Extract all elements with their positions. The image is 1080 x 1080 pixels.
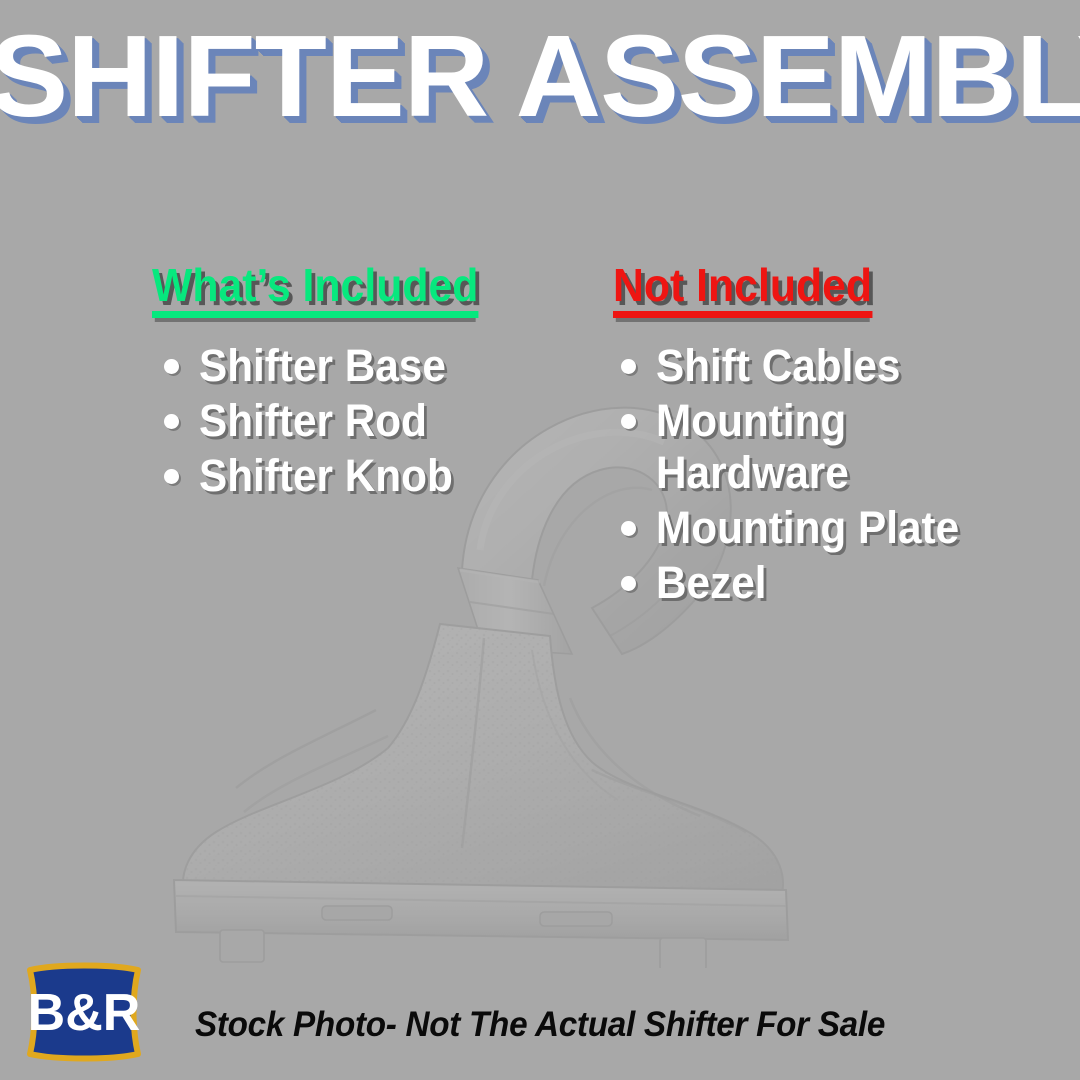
heading-whats-included: What’s Included	[152, 262, 478, 318]
list-not-included: Shift Cables Mounting Hardware Mounting …	[612, 340, 1012, 612]
list-item-label: Shift Cables	[656, 340, 900, 392]
shifter-rod-shape	[458, 568, 572, 654]
list-item: Shifter Rod	[155, 395, 585, 447]
bullet-icon	[621, 359, 636, 374]
page-title: SHIFTER ASSEMBLY	[0, 18, 1080, 134]
list-item-label: Mounting Hardware	[656, 395, 991, 499]
list-item-label: Mounting Plate	[656, 502, 959, 554]
shifter-base-plate-shape	[174, 880, 788, 968]
list-item: Shifter Base	[155, 340, 585, 392]
bullet-icon	[164, 414, 179, 429]
logo-text: B&R	[28, 984, 141, 1042]
list-item-label: Shifter Rod	[199, 395, 427, 447]
bullet-icon	[621, 576, 636, 591]
bullet-icon	[621, 521, 636, 536]
list-item-label: Shifter Base	[199, 340, 446, 392]
poster-canvas: SHIFTER ASSEMBLY What’s Included Shifter…	[0, 0, 1080, 1080]
stock-photo-disclaimer: Stock Photo- Not The Actual Shifter For …	[27, 1005, 1053, 1045]
br-logo: B&R	[22, 962, 146, 1062]
list-item-label: Bezel	[656, 557, 767, 609]
list-item-label: Shifter Knob	[199, 450, 453, 502]
bullet-icon	[164, 469, 179, 484]
list-item: Mounting Plate	[612, 502, 1012, 554]
list-whats-included: Shifter Base Shifter Rod Shifter Knob	[155, 340, 585, 505]
list-item: Shifter Knob	[155, 450, 585, 502]
bullet-icon	[621, 414, 636, 429]
list-item: Mounting Hardware	[612, 395, 1012, 499]
bullet-icon	[164, 359, 179, 374]
list-item: Shift Cables	[612, 340, 1012, 392]
heading-not-included: Not Included	[613, 262, 872, 318]
shift-boot-shape	[183, 624, 783, 900]
list-item: Bezel	[612, 557, 1012, 609]
